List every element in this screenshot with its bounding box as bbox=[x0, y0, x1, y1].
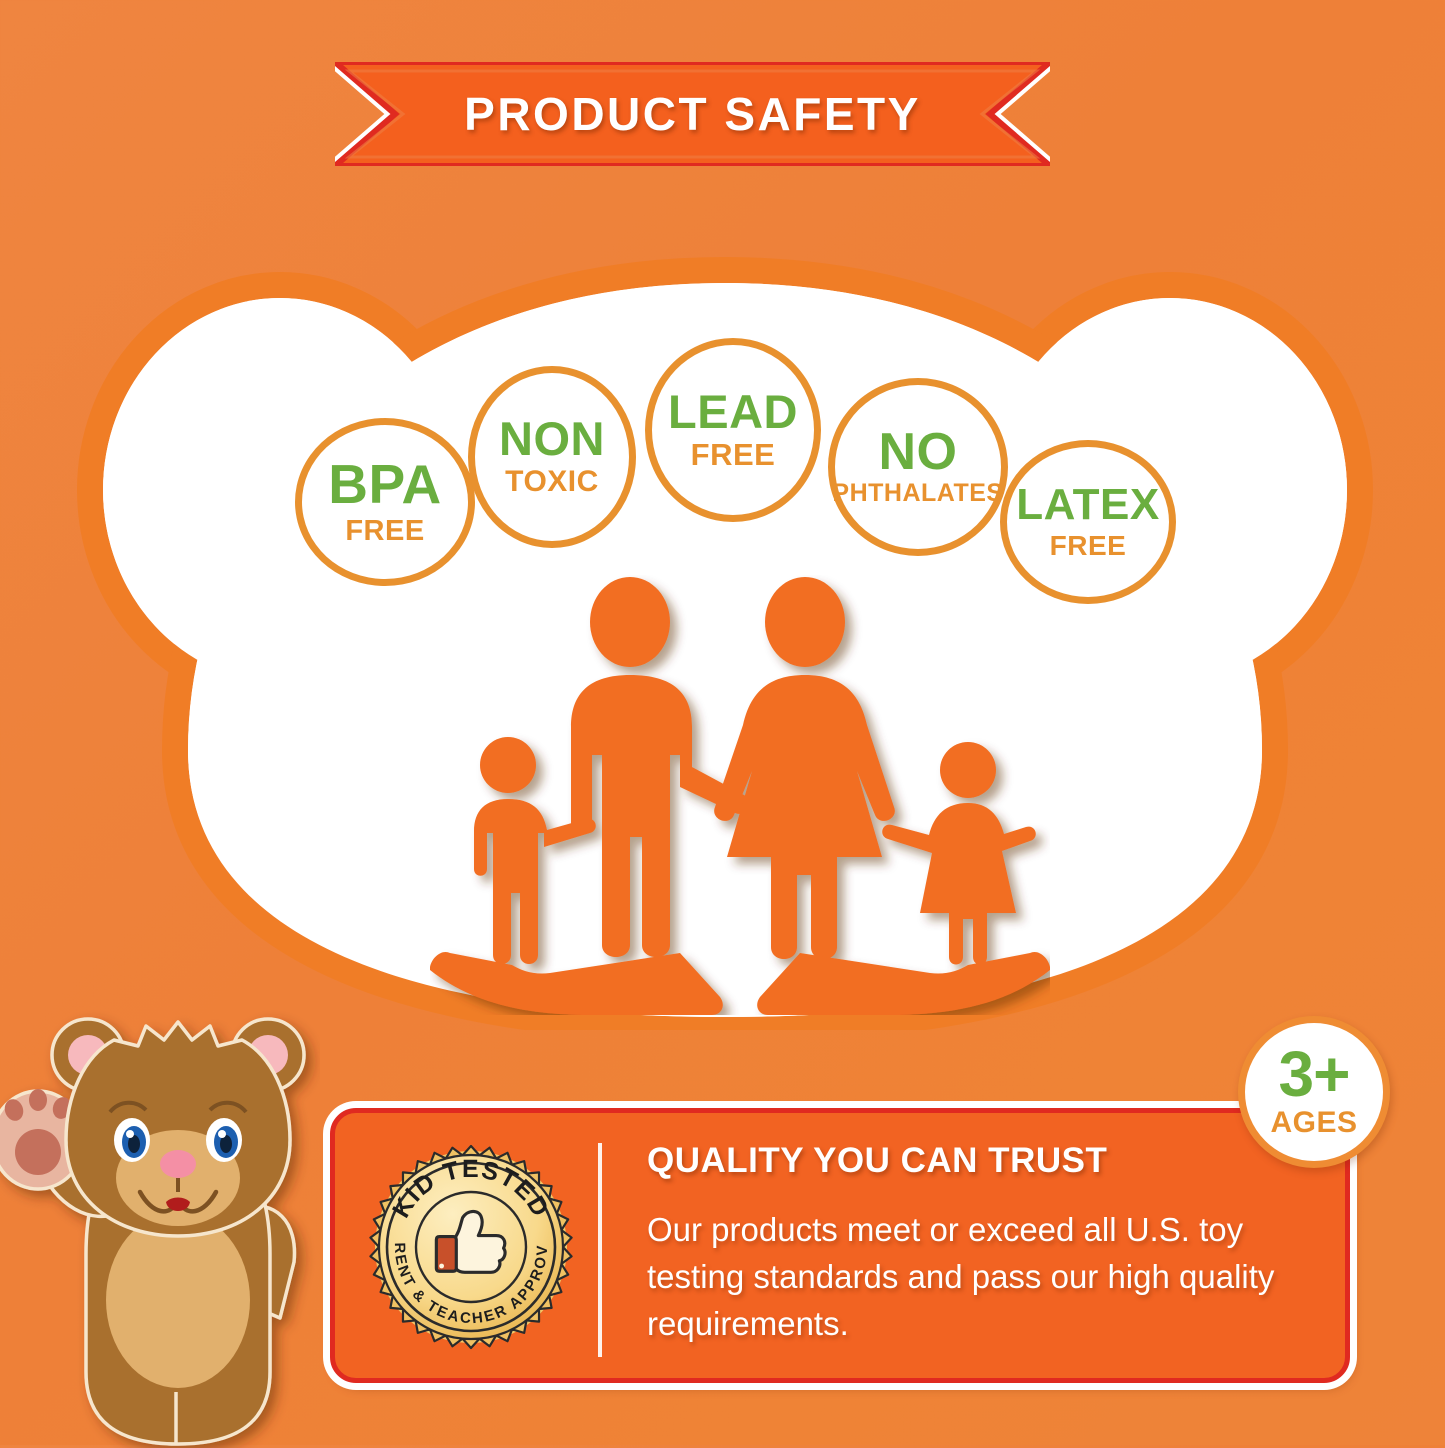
banner-title: PRODUCT SAFETY bbox=[335, 62, 1050, 166]
quality-you-can-trust-panel: KID TESTED PARENT & TEACHER APPROVED QUA… bbox=[330, 1108, 1350, 1383]
quality-heading: QUALITY YOU CAN TRUST bbox=[647, 1141, 1107, 1181]
badge-primary-text: NO bbox=[879, 428, 958, 477]
badge-bpa-free: BPA FREE bbox=[295, 418, 475, 586]
product-safety-banner: PRODUCT SAFETY bbox=[335, 62, 1050, 166]
badge-secondary-text: PHTHALATES bbox=[832, 481, 1003, 506]
badge-secondary-text: FREE bbox=[345, 517, 424, 546]
quality-body-text: Our products meet or exceed all U.S. toy… bbox=[647, 1207, 1287, 1348]
age-recommendation-badge: 3+ AGES bbox=[1238, 1016, 1390, 1168]
badge-primary-text: LATEX bbox=[1016, 484, 1159, 526]
family-in-hands-icon bbox=[430, 575, 1050, 1015]
badge-no-phthalates: NO PHTHALATES bbox=[828, 378, 1008, 556]
badge-primary-text: BPA bbox=[328, 458, 442, 510]
mascot-bear bbox=[0, 1000, 320, 1448]
badge-secondary-text: TOXIC bbox=[505, 467, 599, 497]
badge-primary-text: LEAD bbox=[668, 390, 798, 435]
badge-secondary-text: FREE bbox=[1050, 532, 1127, 560]
kid-tested-seal: KID TESTED PARENT & TEACHER APPROVED bbox=[365, 1141, 577, 1353]
age-label: AGES bbox=[1270, 1108, 1357, 1138]
badge-non-toxic: NON TOXIC bbox=[468, 366, 636, 548]
age-value: 3+ bbox=[1279, 1046, 1350, 1104]
badge-primary-text: NON bbox=[499, 417, 605, 462]
quality-divider bbox=[598, 1143, 602, 1357]
infographic-canvas: PRODUCT SAFETY BPA FREE NON TOXIC LEAD F… bbox=[0, 0, 1445, 1445]
badge-secondary-text: FREE bbox=[691, 439, 776, 470]
badge-lead-free: LEAD FREE bbox=[645, 338, 821, 522]
